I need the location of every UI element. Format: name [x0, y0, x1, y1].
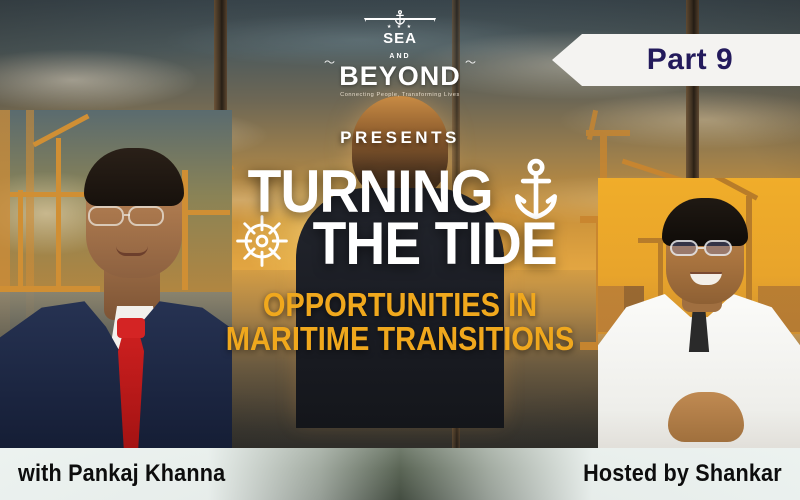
logo-text-sea: SEA [366, 30, 434, 47]
subtitle-line-1: OPPORTUNITIES IN [48, 288, 752, 322]
subtitle-block: OPPORTUNITIES IN MARITIME TRANSITIONS [0, 288, 800, 355]
logo-badge: ★ ★ ★ SEA [364, 18, 436, 52]
title-block: PRESENTS TURNING [0, 128, 800, 355]
subtitle-line-2: MARITIME TRANSITIONS [48, 322, 752, 356]
podcast-promo-poster: ★ ★ ★ SEA 〜 AND 〜 BEYOND Connecting Peop… [0, 0, 800, 500]
clasped-hands [668, 392, 744, 442]
logo-text-beyond: BEYOND [320, 64, 480, 90]
logo-text-and: AND [320, 53, 480, 60]
logo-tagline: Connecting People, Transforming Lives [320, 92, 480, 98]
part-number-banner[interactable]: Part 9 [552, 34, 800, 86]
title-words-the-tide: THE TIDE [313, 214, 557, 274]
guest-name-label: with Pankaj Khanna [18, 460, 225, 488]
host-name-label: Hosted by Shankar [583, 460, 782, 488]
logo-triangle: ★ ★ ★ SEA [364, 18, 436, 50]
title-line-2: THE TIDE [0, 211, 800, 276]
sea-and-beyond-logo[interactable]: ★ ★ ★ SEA 〜 AND 〜 BEYOND Connecting Peop… [320, 18, 480, 98]
part-number-label: Part 9 [619, 43, 733, 77]
presents-label: PRESENTS [0, 128, 800, 148]
footer-bar: with Pankaj Khanna Hosted by Shankar [0, 448, 800, 500]
